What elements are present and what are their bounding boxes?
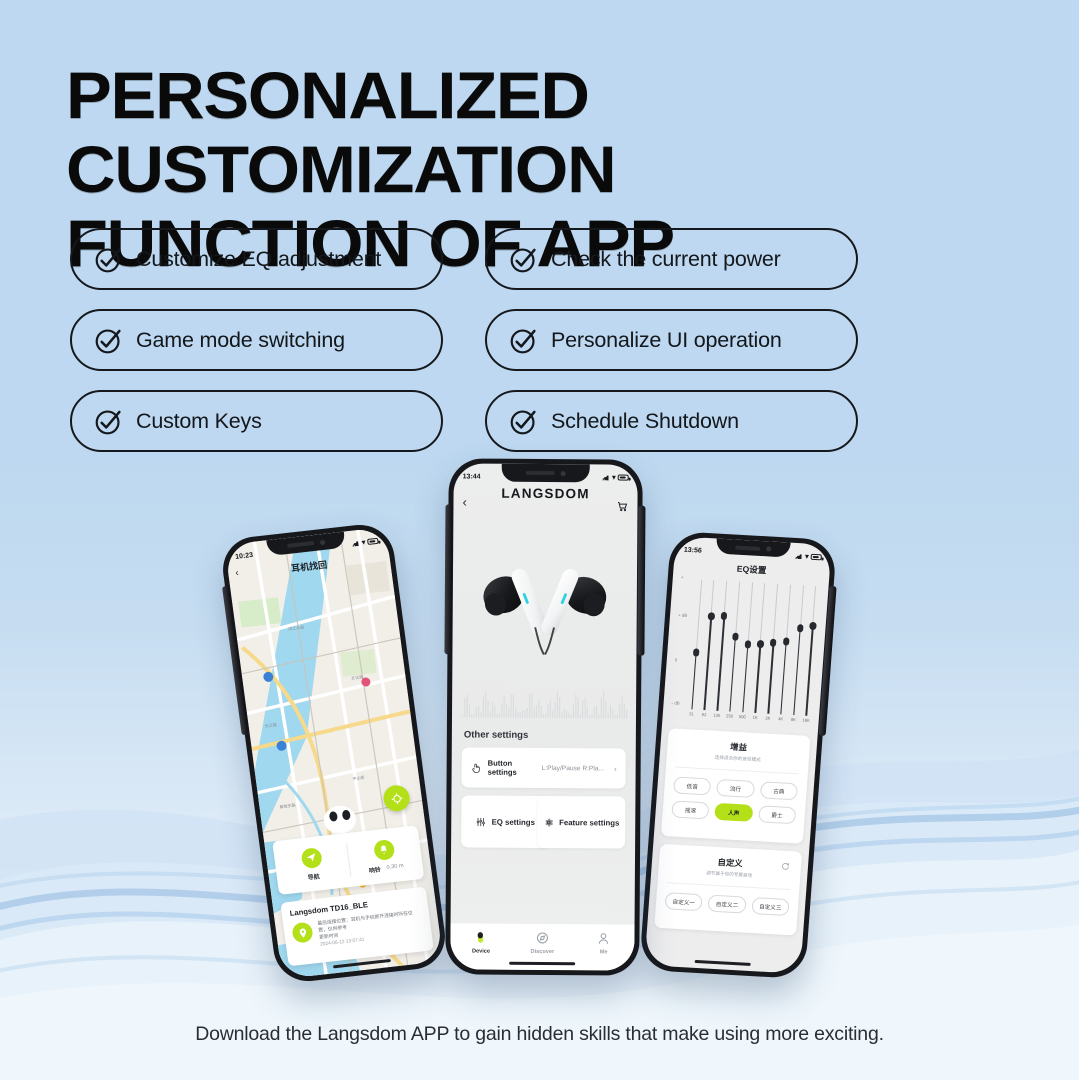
feature-pill-custom-keys[interactable]: Custom Keys — [70, 390, 443, 452]
preset-chip-4[interactable]: 人声 — [715, 803, 754, 822]
eq-axis-label-1: + dB — [678, 612, 688, 617]
button-settings-row[interactable]: Button settings L:Play/Pause R:Pla... › — [462, 747, 626, 788]
slider-knob[interactable] — [708, 613, 715, 621]
signal-icon — [795, 553, 803, 559]
slider-fill — [729, 636, 736, 711]
check-circle-icon — [509, 407, 538, 436]
wifi-icon: ▾ — [805, 552, 809, 560]
action-label: 响铃 — [368, 864, 381, 874]
preset-chip-0[interactable]: 低音 — [673, 776, 712, 795]
refresh-icon[interactable] — [781, 862, 791, 871]
home-indicator — [695, 959, 751, 966]
slider-fill — [767, 642, 774, 713]
compass-icon — [535, 931, 549, 945]
back-button[interactable]: ‹ — [462, 495, 466, 508]
headline-line-1: PERSONALIZED CUSTOMIZATION — [66, 58, 615, 206]
check-circle-icon — [509, 326, 538, 355]
status-time: 10:23 — [235, 551, 254, 560]
location-pin-icon — [291, 922, 314, 944]
phone-right-screen: 13:56 ▾ EQ设置 + + dB 0 - dB 3162125250500… — [644, 536, 831, 974]
status-time: 13:44 — [463, 473, 481, 480]
chevron-right-icon: › — [614, 764, 617, 773]
eq-graph[interactable]: + + dB 0 - dB 31621252505001K2K4K8K16K — [668, 574, 823, 730]
slider-fill — [691, 652, 697, 709]
battery-icon — [810, 554, 821, 561]
hand-tap-icon — [471, 761, 482, 774]
eq-band-label: 250 — [724, 713, 734, 725]
eq-band-label: 1K — [750, 715, 760, 727]
slider-knob[interactable] — [810, 622, 817, 630]
phone-notch — [502, 464, 590, 483]
feature-label: Personalize UI operation — [551, 328, 782, 353]
feature-settings-card[interactable]: Feature settings — [537, 796, 625, 849]
eq-band-label: 8K — [788, 717, 798, 729]
slider-fill — [793, 628, 801, 715]
status-time: 13:56 — [684, 546, 702, 554]
bell-ring-icon — [372, 839, 395, 861]
check-circle-icon — [94, 245, 123, 274]
feature-label: Game mode switching — [136, 328, 345, 353]
eq-band-label: 500 — [737, 714, 747, 726]
device-desc-line2: 更新时间 — [319, 934, 339, 941]
gear-icon — [543, 816, 554, 827]
slider-knob[interactable] — [744, 641, 751, 649]
slider-fill — [806, 626, 814, 716]
custom-chip-0[interactable]: 自定义一 — [665, 892, 704, 911]
feature-label: Custom Keys — [136, 409, 262, 434]
eq-preset-card: 增益 选择适合你的音效模式 低音流行古典摇滚人声爵士 — [661, 728, 811, 844]
tab-label: Device — [472, 949, 490, 955]
slider-fill — [780, 642, 787, 715]
device-desc-line1: 最后连接位置：耳机与手机断开连接时所在位置，仅供参考 — [317, 911, 413, 934]
feature-pill-check-power[interactable]: Check the current power — [485, 228, 858, 290]
slider-knob[interactable] — [732, 632, 739, 640]
battery-icon — [367, 538, 379, 545]
button-settings-value: L:Play/Pause R:Pla... — [542, 764, 604, 771]
eq-band-label: 4K — [775, 716, 785, 728]
eq-settings-label: EQ settings — [492, 817, 535, 826]
slider-knob[interactable] — [721, 612, 728, 620]
signal-icon — [602, 474, 610, 480]
wifi-icon: ▾ — [612, 473, 616, 481]
wifi-icon: ▾ — [361, 538, 366, 546]
eq-custom-card: 自定义 调节属于你的专属音效 自定义一自定义二自定义三 — [654, 844, 802, 936]
custom-chip-group[interactable]: 自定义一自定义二自定义三 — [665, 892, 790, 916]
feature-pill-game-mode[interactable]: Game mode switching — [70, 309, 443, 371]
feature-label: Customize EQ adjustment — [136, 247, 381, 272]
button-settings-label: Button settings — [488, 759, 536, 777]
action-label: 导航 — [307, 871, 320, 881]
eq-axis-label-0: + — [681, 575, 684, 580]
earbuds-photo — [452, 541, 637, 692]
tab-label: Me — [600, 949, 608, 955]
action-navigate[interactable]: 导航 — [272, 833, 352, 895]
preset-chip-5[interactable]: 爵士 — [758, 805, 797, 824]
check-circle-icon — [509, 245, 538, 274]
slider-knob[interactable] — [797, 624, 804, 632]
preset-chip-1[interactable]: 流行 — [716, 779, 755, 798]
eq-band-label: 62 — [699, 712, 709, 724]
preset-chip-2[interactable]: 古典 — [760, 781, 799, 800]
phone-mockup-right: 13:56 ▾ EQ设置 + + dB 0 - dB 3162125250500… — [639, 531, 837, 979]
feature-list: Customize EQ adjustment Check the curren… — [70, 228, 860, 452]
slider-knob[interactable] — [692, 648, 699, 656]
audio-waveform — [460, 685, 628, 720]
slider-fill — [755, 644, 762, 713]
eq-axis-label-3: - dB — [671, 700, 679, 705]
slider-fill — [704, 617, 712, 710]
feature-pill-customize-eq[interactable]: Customize EQ adjustment — [70, 228, 443, 290]
feature-pill-personalize-ui[interactable]: Personalize UI operation — [485, 309, 858, 371]
action-distance: 0.30 m — [386, 863, 404, 871]
eq-axis-label-2: 0 — [675, 657, 678, 662]
tab-discover[interactable]: Discover — [512, 931, 573, 955]
feature-label: Schedule Shutdown — [551, 409, 739, 434]
phone-center-screen: 13:44 ▾ ‹ LANGSDOM — [450, 463, 638, 970]
eq-band-label: 2K — [763, 715, 773, 727]
eq-band-label: 125 — [712, 713, 722, 725]
app-header: ‹ — [453, 489, 637, 524]
eq-sliders-icon — [476, 816, 487, 827]
feature-label: Check the current power — [551, 247, 781, 272]
slider-knob[interactable] — [770, 638, 777, 646]
tab-label: Discover — [531, 949, 555, 955]
custom-chip-2[interactable]: 自定义三 — [751, 897, 790, 916]
earbud-icon — [474, 931, 488, 945]
feature-settings-label: Feature settings — [559, 818, 619, 827]
custom-chip-1[interactable]: 自定义二 — [708, 895, 747, 914]
slider-knob[interactable] — [783, 638, 790, 646]
feature-pill-schedule-shutdown[interactable]: Schedule Shutdown — [485, 390, 858, 452]
eq-band-label: 31 — [686, 711, 696, 723]
signal-icon — [352, 540, 361, 547]
person-icon — [597, 931, 611, 945]
check-circle-icon — [94, 407, 123, 436]
phone-mockup-center: 13:44 ▾ ‹ LANGSDOM — [445, 458, 643, 975]
home-indicator — [509, 961, 575, 965]
promo-banner: PERSONALIZED CUSTOMIZATION FUNCTION OF A… — [0, 0, 1079, 1080]
slider-knob[interactable] — [757, 640, 764, 648]
slider-fill — [742, 645, 749, 713]
check-circle-icon — [94, 326, 123, 355]
section-title-other-settings: Other settings — [464, 729, 528, 740]
tab-me[interactable]: Me — [573, 931, 634, 955]
action-ring[interactable]: 响铃 0.30 m — [345, 825, 425, 887]
battery-icon — [618, 475, 629, 481]
preset-chip-group[interactable]: 低音流行古典摇滚人声爵士 — [671, 776, 798, 824]
slider-fill — [716, 616, 725, 711]
eq-slider-group[interactable] — [687, 579, 820, 716]
preset-chip-3[interactable]: 摇滚 — [671, 800, 710, 819]
footer-caption: Download the Langsdom APP to gain hidden… — [0, 1023, 1079, 1046]
eq-band-label: 16K — [801, 718, 811, 730]
navigate-icon — [300, 847, 323, 869]
tab-device[interactable]: Device — [450, 930, 511, 954]
